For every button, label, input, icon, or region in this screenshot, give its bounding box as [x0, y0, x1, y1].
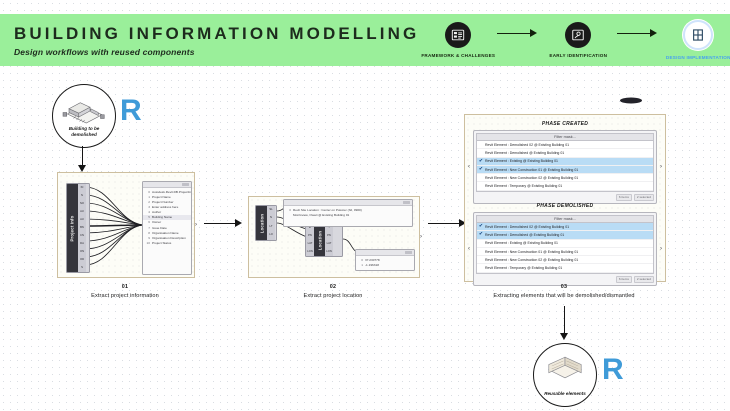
chevron-right-icon: › [195, 222, 197, 228]
item-count: 6 items [616, 276, 632, 283]
filter-list-footer: 6 items 2 selected [476, 276, 654, 283]
node-location-a[interactable]: Location SL N LT LO [255, 205, 277, 241]
node-output-ports: SL N LT LO [267, 206, 275, 240]
isometric-reusable-module-icon [544, 355, 586, 383]
watch-node-project-info[interactable]: 0Autodesk.Revit.DB.ProjectInfo 1Project … [142, 181, 192, 275]
stage-label: FRAMEWORK & CHALLENGES [421, 53, 495, 58]
filter-list-phase-demolished[interactable]: Filter mask... ✔Revit Element : Demolish… [473, 212, 657, 286]
step-label-03: 03 Extracting elements that will be demo… [464, 284, 664, 299]
chevron-right-icon: › [660, 164, 662, 170]
node-project-info[interactable]: Project Info IN N NO AU AU BN CN DA ON O… [66, 183, 90, 273]
arrow-right-icon [617, 28, 659, 39]
filter-mask-input[interactable]: Filter mask... [476, 133, 654, 141]
watch-window-controls[interactable] [182, 183, 189, 186]
step-label-01: 01 Extract project information [57, 284, 193, 299]
node-title: Project Info [67, 184, 78, 272]
list-item[interactable]: Revit Element : Demolished 02 @ Existing… [477, 141, 653, 149]
revit-logo: R [602, 355, 624, 385]
arrow-right-icon [497, 28, 539, 39]
list-item[interactable]: Revit Element : Existing @ Existing Buil… [477, 240, 653, 248]
stage-design-implementation[interactable]: DESIGN IMPLEMENTATION [659, 20, 730, 60]
phase-demolished-title: PHASE DEMOLISHED [473, 203, 657, 209]
node-output-ports: l PN LAT LON [325, 224, 333, 256]
watch-node-site-location[interactable]: 0Revit Site Location : Center on Polozec… [283, 199, 413, 227]
list-item: 10Project Status [143, 240, 191, 245]
watch-rows: 037.230778 1-1.196318 [356, 256, 414, 269]
isometric-demolished-building-icon [60, 96, 108, 126]
selected-count: 2 selected [634, 276, 654, 283]
node-title: Location [314, 224, 325, 256]
chevron-left-icon: ‹ [468, 246, 470, 252]
list-item[interactable]: ✔Revit Element : New Construction 01 @ E… [477, 166, 653, 174]
node-input-ports: lo PN LAT LON [306, 224, 314, 256]
watch-rows: 0Revit Site Location : Center on Polozec… [284, 206, 412, 219]
checkbox-checked[interactable]: ✔ [479, 159, 484, 164]
watch-window-controls[interactable] [405, 251, 412, 254]
stage-framework-and-challenges[interactable]: FRAMEWORK & CHALLENGES [419, 22, 497, 58]
window-grid-icon [683, 20, 713, 50]
checkbox-checked[interactable]: ✔ [479, 224, 484, 229]
filter-list-body: ✔Revit Element : Demolished 02 @ Existin… [476, 223, 654, 274]
filter-list-footer: 6 items 2 selected [476, 194, 654, 201]
list-item[interactable]: Revit Element : New Construction 01 @ Ex… [477, 248, 653, 256]
watch-window-controls[interactable] [403, 201, 410, 204]
arrow-down-icon-to-reusable [560, 306, 569, 340]
stage-label: EARLY IDENTIFICATION [549, 53, 607, 58]
header-titles: BUILDING INFORMATION MODELLING Design wo… [0, 24, 419, 57]
checkbox-checked[interactable]: ✔ [479, 167, 484, 172]
chevron-left-icon: ‹ [468, 164, 470, 170]
arrow-right-icon-01-to-02 [204, 219, 242, 228]
chevron-right-icon: › [660, 246, 662, 252]
item-count: 6 items [616, 194, 632, 201]
list-item[interactable]: ✔Revit Element : Demolished @ Existing B… [477, 231, 653, 239]
list-item[interactable]: ✔Revit Element : Demolished 02 @ Existin… [477, 223, 653, 231]
ellipse-decoration [619, 96, 643, 105]
step-label-02: 02 Extract project location [248, 284, 418, 299]
badge-reusable-elements: Reusable elements [533, 343, 597, 407]
page-subtitle: Design workflows with reused components [14, 47, 419, 57]
list-item[interactable]: Revit Element : New Construction 02 @ Ex… [477, 256, 653, 264]
revit-logo: R [120, 96, 142, 126]
list-item[interactable]: Revit Element : Demolished @ Existing Bu… [477, 149, 653, 157]
node-location-b[interactable]: lo PN LAT LON Location l PN LAT LON [305, 223, 343, 257]
phase-created-block: PHASE CREATED Filter mask... Revit Eleme… [473, 121, 657, 204]
list-item: Morrisview, Owari @ Existing Building 01 [284, 213, 412, 218]
arrow-down-icon [78, 146, 87, 172]
filter-list-body: Revit Element : Demolished 02 @ Existing… [476, 141, 654, 192]
list-item[interactable]: ✔Revit Element : Existing @ Existing Bui… [477, 158, 653, 166]
list-card-icon [445, 22, 471, 48]
list-item[interactable]: Revit Element : Temporary @ Existing Bui… [477, 182, 653, 190]
page-title: BUILDING INFORMATION MODELLING [14, 24, 419, 44]
phase-created-title: PHASE CREATED [473, 121, 657, 127]
list-item[interactable]: Revit Element : Temporary @ Existing Bui… [477, 264, 653, 272]
filter-list-phase-created[interactable]: Filter mask... Revit Element : Demolishe… [473, 130, 657, 204]
filter-mask-input[interactable]: Filter mask... [476, 215, 654, 223]
panel-step-02: Location SL N LT LO lo PN LAT LON Locati… [248, 196, 420, 278]
phase-demolished-block: PHASE DEMOLISHED Filter mask... ✔Revit E… [473, 203, 657, 286]
stage-label: DESIGN IMPLEMENTATION [666, 55, 730, 60]
stage-early-identification[interactable]: EARLY IDENTIFICATION [539, 22, 617, 58]
badge-building-to-be-demolished: Building to be demolished [52, 84, 116, 148]
panel-step-01: Project Info IN N NO AU AU BN CN DA ON O… [57, 172, 195, 278]
stage-progress-nav: FRAMEWORK & CHALLENGES EARLY IDENTIFICAT… [419, 14, 730, 66]
map-pin-icon [565, 22, 591, 48]
list-item[interactable]: Revit Element : New Construction 02 @ Ex… [477, 174, 653, 182]
panel-step-03: PHASE CREATED Filter mask... Revit Eleme… [464, 114, 666, 282]
checkbox-checked[interactable]: ✔ [479, 232, 484, 237]
list-item: 1-1.196318 [356, 263, 414, 268]
arrow-right-icon-02-to-03 [428, 219, 466, 228]
node-title: Location [256, 206, 267, 240]
page-header: BUILDING INFORMATION MODELLING Design wo… [0, 14, 730, 66]
chevron-right-icon: › [420, 234, 422, 240]
watch-rows: 0Autodesk.Revit.DB.ProjectInfo 1Project … [143, 188, 191, 247]
watch-node-coordinates[interactable]: 037.230778 1-1.196318 [355, 249, 415, 271]
node-output-ports: IN N NO AU AU BN CN DA ON OD S [78, 184, 86, 272]
selected-count: 2 selected [634, 194, 654, 201]
